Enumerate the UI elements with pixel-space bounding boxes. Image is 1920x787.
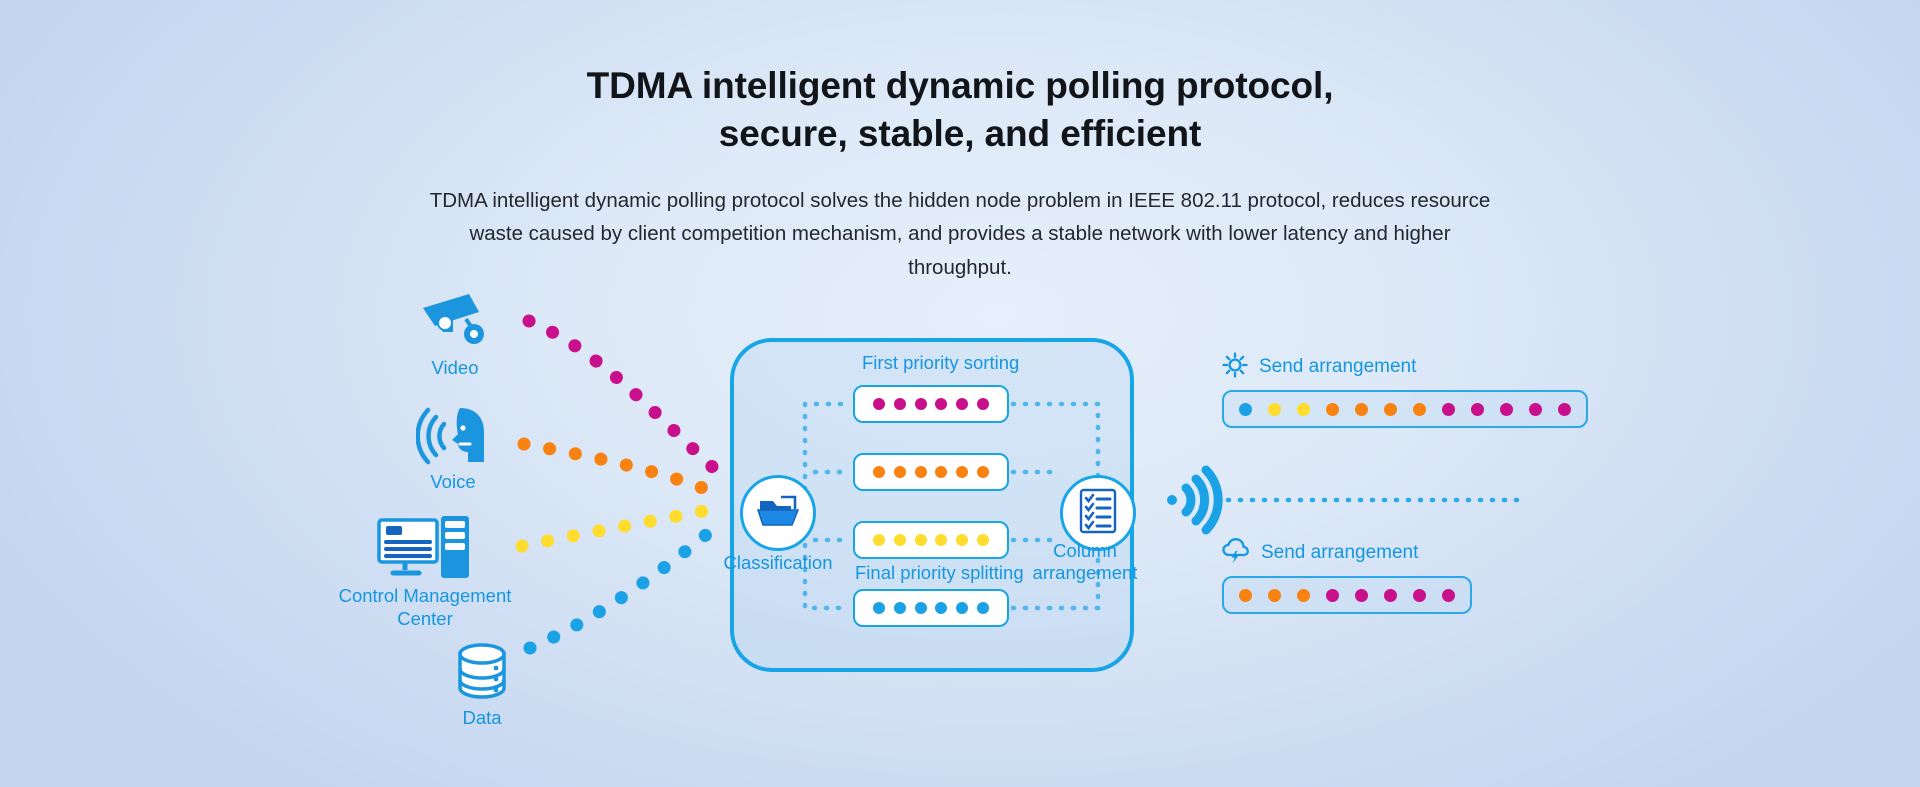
schedule-slot-dot [1355,589,1368,602]
source-node-data[interactable]: Data [387,640,577,730]
final-priority-splitting-label: Final priority splitting [855,562,1024,584]
queue-slot-dot [894,602,906,614]
queue-slot-dot [894,534,906,546]
folder-open-icon [757,494,799,533]
schedule-slot-dot [1529,403,1542,416]
source-node-control-management-center[interactable]: Control Management Center [330,516,520,630]
queue-slot-dot [956,466,968,478]
queue-slot-dot [915,534,927,546]
queue-slot-dot [977,398,989,410]
queue-slot-dot [935,602,947,614]
checklist-icon [1078,488,1118,539]
schedule-slot-dot [1413,589,1426,602]
wifi-broadcast-icon [1167,470,1218,530]
output-label-stormy: Send arrangement [1261,542,1418,564]
output-schedule-bar[interactable] [1222,576,1472,614]
queue-slot-dot [935,466,947,478]
schedule-slot-dot [1384,403,1397,416]
diagram-stage: .stream { fill: none; stroke-linecap: ro… [0,0,1920,787]
queue-slot-dot [956,602,968,614]
queue-slot-dot [873,466,885,478]
queue-slot-dot [873,398,885,410]
schedule-slot-dot [1442,589,1455,602]
schedule-slot-dot [1355,403,1368,416]
first-priority-sorting-label: First priority sorting [862,352,1019,374]
queue-slot-dot [894,398,906,410]
schedule-slot-dot [1268,403,1281,416]
schedule-slot-dot [1239,403,1252,416]
output-group-stormy: Send arrangement [1222,538,1472,614]
output-schedule-bar[interactable] [1222,390,1588,428]
priority-queue-row[interactable] [853,453,1009,491]
queue-slot-dot [873,602,885,614]
schedule-slot-dot [1268,589,1281,602]
queue-slot-dot [873,534,885,546]
source-label-voice: Voice [358,471,548,494]
output-header-sunny: Send arrangement [1222,352,1588,382]
sun-icon [1222,352,1248,383]
queue-slot-dot [956,398,968,410]
schedule-slot-dot [1239,589,1252,602]
source-node-video[interactable]: Video [360,292,550,380]
control-center-icon [330,516,520,580]
schedule-slot-dot [1471,403,1484,416]
source-label-cmc: Control Management Center [330,585,520,630]
classification-node[interactable] [740,475,816,551]
queue-slot-dot [956,534,968,546]
stream-video [529,321,718,472]
schedule-slot-dot [1413,403,1426,416]
voice-speaking-icon [358,404,548,466]
priority-queue-row[interactable] [853,521,1009,559]
output-group-sunny: Send arrangement [1222,352,1588,428]
schedule-slot-dot [1297,589,1310,602]
database-icon [387,640,577,702]
queue-slot-dot [977,602,989,614]
schedule-slot-dot [1326,403,1339,416]
source-label-data: Data [387,707,577,730]
queue-slot-dot [915,398,927,410]
schedule-slot-dot [1297,403,1310,416]
queue-slot-dot [977,466,989,478]
schedule-slot-dot [1326,589,1339,602]
stream-cmc [522,508,718,546]
queue-slot-dot [977,534,989,546]
queue-slot-dot [894,466,906,478]
source-label-video: Video [360,357,550,380]
priority-queue-row[interactable] [853,589,1009,627]
schedule-slot-dot [1384,589,1397,602]
cctv-camera-icon [360,292,550,352]
queue-slot-dot [935,534,947,546]
column-arrangement-label: Column arrangement [1010,540,1160,584]
schedule-slot-dot [1558,403,1571,416]
schedule-slot-dot [1442,403,1455,416]
stream-data [530,525,718,648]
output-label-sunny: Send arrangement [1259,356,1416,378]
output-header-stormy: Send arrangement [1222,538,1472,568]
queue-slot-dot [915,602,927,614]
queue-slot-dot [915,466,927,478]
classification-label: Classification [703,552,853,574]
priority-queue-row[interactable] [853,385,1009,423]
source-node-voice[interactable]: Voice [358,404,548,494]
queue-slot-dot [935,398,947,410]
schedule-slot-dot [1500,403,1513,416]
storm-cloud-icon [1222,537,1250,570]
